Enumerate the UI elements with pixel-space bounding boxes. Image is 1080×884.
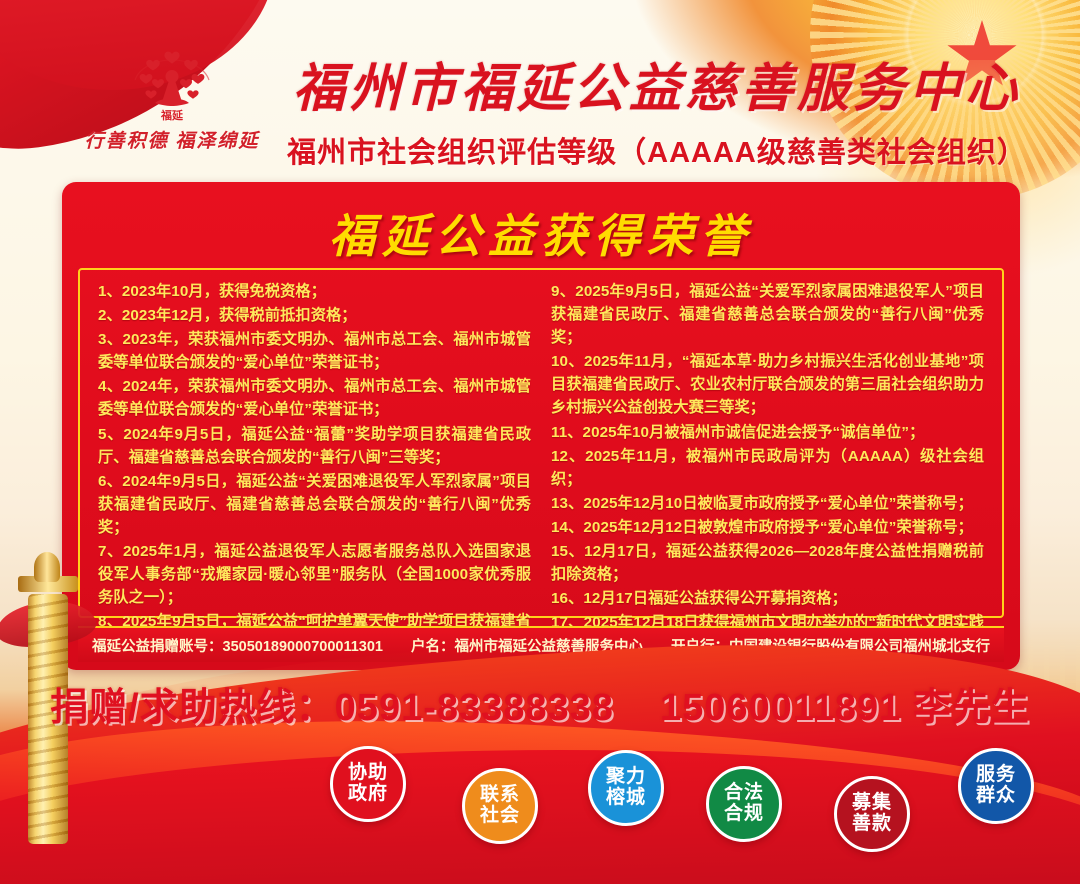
honors-panel-title: 福延公益获得荣誉 (62, 200, 1020, 266)
badge-line-1: 服务 (976, 765, 1016, 786)
logo-caption-text: 福延 (160, 108, 184, 122)
badge-line-2: 群众 (976, 786, 1016, 807)
badge-line-2: 社会 (480, 806, 520, 827)
honor-item: 10、2025年11月，“福延本草·助力乡村振兴生活化创业基地”项目获福建省民政… (551, 350, 984, 419)
badge-line-2: 合规 (724, 804, 764, 825)
badge-line-2: 榕城 (606, 788, 646, 809)
value-badges: 协助 政府 联系 社会 聚力 榕城 合法 合规 募集 善款 服务 群众 (0, 728, 1080, 878)
honor-item: 11、2025年10月被福州市诚信促进会授予“诚信单位”； (551, 421, 984, 444)
honor-item: 5、2024年9月5日，福延公益“福蕾”奖助学项目获福建省民政厅、福建省慈善总会… (98, 423, 531, 469)
organization-logo: 福延 行善积德 福泽绵延 (62, 40, 282, 153)
honor-item: 2、2023年12月，获得税前抵扣资格； (98, 304, 531, 327)
charity-poster: 福延 行善积德 福泽绵延 福州市福延公益慈善服务中心 福州市社会组织评估等级（A… (0, 0, 1080, 884)
bank-account-value: 35050189000700011301 (223, 639, 383, 655)
badge-connect-society[interactable]: 联系 社会 (462, 768, 538, 844)
badge-line-1: 聚力 (606, 767, 646, 788)
organization-slogan: 行善积德 福泽绵延 (62, 126, 282, 153)
honors-panel: 福延公益获得荣誉 1、2023年10月，获得免税资格； 2、2023年12月，获… (62, 182, 1020, 670)
badge-line-2: 善款 (852, 814, 892, 835)
honor-item: 4、2024年，荣获福州市委文明办、福州市总工会、福州市城管委等单位联合颁发的“… (98, 375, 531, 421)
badge-line-1: 联系 (480, 785, 520, 806)
badge-gather-strength-rongcheng[interactable]: 聚力 榕城 (588, 750, 664, 826)
honors-column-left: 1、2023年10月，获得免税资格； 2、2023年12月，获得税前抵扣资格； … (88, 280, 541, 610)
hotline-mobile[interactable]: 15060011891 (660, 687, 901, 729)
badge-assist-government[interactable]: 协助 政府 (330, 746, 406, 822)
hotline-contact: 李先生 (913, 687, 1030, 729)
badge-legal-compliance[interactable]: 合法 合规 (706, 766, 782, 842)
honor-item: 13、2025年12月10日被临夏市政府授予“爱心单位”荣誉称号； (551, 492, 984, 515)
badge-raise-donations[interactable]: 募集 善款 (834, 776, 910, 852)
honor-item: 12、2025年11月，被福州市民政局评为（AAAAA）级社会组织； (551, 445, 984, 491)
title-block: 福州市福延公益慈善服务中心 福州市社会组织评估等级（AAAAA级慈善类社会组织） (272, 46, 1042, 171)
honor-item: 16、12月17日福延公益获得公开募捐资格； (551, 587, 984, 610)
honor-item: 7、2025年1月，福延公益退役军人志愿者服务总队入选国家退役军人事务部“戎耀家… (98, 540, 531, 609)
pillar-top-ornament (34, 552, 60, 582)
bank-account-label: 福延公益捐赠账号： (92, 639, 223, 655)
honors-column-right: 9、2025年9月5日，福延公益“关爱军烈家属困难退役军人”项目获福建省民政厅、… (541, 280, 994, 610)
honor-item: 9、2025年9月5日，福延公益“关爱军烈家属困难退役军人”项目获福建省民政厅、… (551, 280, 984, 349)
honor-item: 6、2024年9月5日，福延公益“关爱困难退役军人军烈家属”项目获福建省民政厅、… (98, 470, 531, 539)
bank-account: 福延公益捐赠账号：35050189000700011301 (92, 635, 383, 656)
poster-header: 福延 行善积德 福泽绵延 福州市福延公益慈善服务中心 福州市社会组织评估等级（A… (0, 0, 1080, 172)
hotline-label: 捐赠/求助热线： (50, 687, 335, 729)
badge-line-1: 协助 (348, 763, 388, 784)
honor-item: 1、2023年10月，获得免税资格； (98, 280, 531, 303)
honors-list-container: 1、2023年10月，获得免税资格； 2、2023年12月，获得税前抵扣资格； … (78, 268, 1004, 618)
badge-line-1: 募集 (852, 793, 892, 814)
badge-line-2: 政府 (348, 784, 388, 805)
honor-item: 14、2025年12月12日被敦煌市政府授予“爱心单位”荣誉称号； (551, 516, 984, 539)
badge-serve-people[interactable]: 服务 群众 (958, 748, 1034, 824)
page-subtitle: 福州市社会组织评估等级（AAAAA级慈善类社会组织） (272, 129, 1042, 171)
hotline-row: 捐赠/求助热线：0591-8338833815060011891 李先生 (0, 676, 1080, 731)
page-title: 福州市福延公益慈善服务中心 (272, 46, 1042, 121)
badge-line-1: 合法 (724, 783, 764, 804)
honor-item: 15、12月17日，福延公益获得2026—2028年度公益性捐赠税前扣除资格； (551, 540, 984, 586)
hotline-phone[interactable]: 0591-83388338 (335, 687, 614, 729)
honor-item: 3、2023年，荣获福州市委文明办、福州市总工会、福州市城管委等单位联合颁发的“… (98, 328, 531, 374)
heart-tree-logo-icon: 福延 (117, 40, 227, 122)
